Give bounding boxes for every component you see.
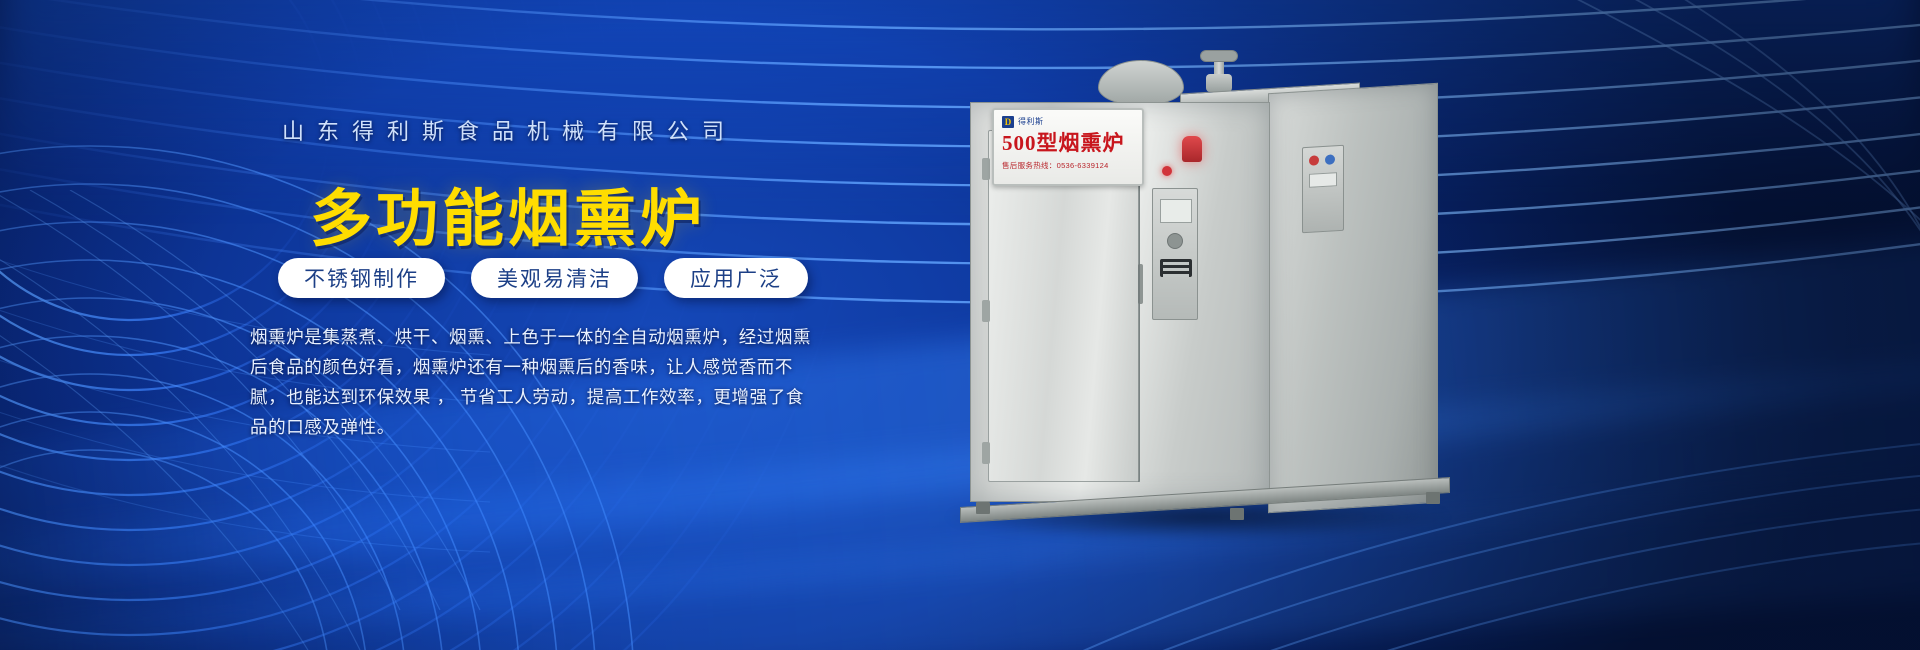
promo-banner: 山东得利斯食品机械有限公司 多功能烟熏炉 不锈钢制作 美观易清洁 应用广泛 烟熏… bbox=[0, 0, 1920, 650]
sign-brand-row: D 得利斯 bbox=[1002, 115, 1136, 128]
machine-product-sign: D 得利斯 500型烟熏炉 售后服务热线：0536-6339124 bbox=[992, 108, 1144, 186]
feature-pill-easy-clean[interactable]: 美观易清洁 bbox=[471, 258, 638, 298]
company-name: 山东得利斯食品机械有限公司 bbox=[282, 114, 737, 146]
sign-hotline: 售后服务热线：0536-6339124 bbox=[1002, 160, 1136, 171]
banner-description: 烟熏炉是集蒸煮、烘干、烟熏、上色于一体的全自动烟熏炉，经过烟熏后食品的颜色好看，… bbox=[250, 322, 812, 442]
cabinet-side-panel bbox=[1268, 83, 1438, 513]
brand-logo-icon: D bbox=[1002, 116, 1014, 128]
alarm-beacon-light bbox=[1182, 136, 1202, 162]
side-control-box bbox=[1302, 145, 1344, 234]
valve-wheel bbox=[1200, 50, 1238, 62]
control-button-row bbox=[1160, 259, 1192, 277]
sign-model-suffix: 型烟熏炉 bbox=[1037, 132, 1125, 155]
banner-text-column: 山东得利斯食品机械有限公司 多功能烟熏炉 不锈钢制作 美观易清洁 应用广泛 烟熏… bbox=[0, 0, 900, 650]
valve-body bbox=[1206, 74, 1232, 92]
smokehouse-oven-image: D 得利斯 500型烟熏炉 售后服务热线：0536-6339124 bbox=[930, 40, 1490, 540]
side-lamp-blue bbox=[1325, 154, 1335, 165]
side-lamp-red bbox=[1309, 155, 1319, 166]
door-seam bbox=[1138, 136, 1140, 482]
banner-description-text: 烟熏炉是集蒸煮、烘干、烟熏、上色于一体的全自动烟熏炉，经过烟熏后食品的颜色好看，… bbox=[250, 322, 812, 442]
banner-headline: 多功能烟熏炉 bbox=[310, 168, 706, 258]
sign-model-number: 500 bbox=[1002, 131, 1037, 155]
brand-name: 得利斯 bbox=[1018, 116, 1044, 127]
leveling-foot-right bbox=[1426, 492, 1440, 504]
leveling-foot-left bbox=[976, 502, 990, 514]
door-hinge-bottom bbox=[982, 442, 990, 464]
control-display-screen bbox=[1160, 199, 1192, 223]
exhaust-stack bbox=[1098, 60, 1184, 106]
feature-pill-wide-use[interactable]: 应用广泛 bbox=[664, 258, 808, 298]
control-panel bbox=[1152, 188, 1198, 320]
leveling-foot-center bbox=[1230, 508, 1244, 520]
door-hinge-top bbox=[982, 158, 990, 180]
status-indicator-light bbox=[1162, 166, 1172, 176]
side-panel-slot bbox=[1309, 172, 1337, 188]
feature-pill-group: 不锈钢制作 美观易清洁 应用广泛 bbox=[278, 258, 808, 298]
feature-pill-stainless[interactable]: 不锈钢制作 bbox=[278, 258, 445, 298]
control-knob bbox=[1167, 233, 1183, 249]
sign-model-title: 500型烟熏炉 bbox=[1002, 128, 1136, 159]
door-hinge-middle bbox=[982, 300, 990, 322]
